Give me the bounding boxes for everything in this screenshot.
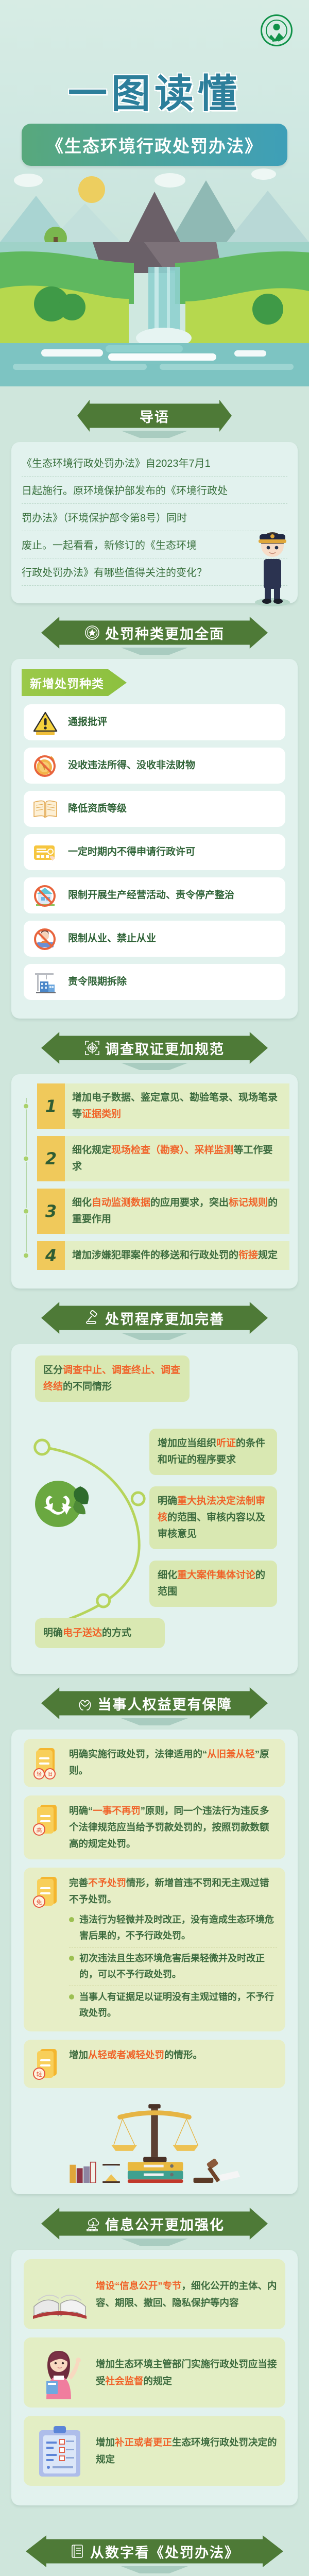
evidence-banner-wrap: 调查取证更加规范 <box>0 1019 309 1070</box>
list-item: 4 增加涉嫌犯罪案件的移送和行政处罚的衔接规定 <box>37 1241 289 1270</box>
types-banner-label: 处罚种类更加全面 <box>105 623 225 643</box>
rights-item: 免 完善不予处罚情形，新增首违不罚和无主观过错不予处罚。 违法行为轻微并及时改正… <box>24 1868 285 2031</box>
cloud-network-icon <box>84 2216 100 2231</box>
list-item-label: 没收违法所得、没收非法财物 <box>68 759 195 772</box>
step-number: 3 <box>37 1189 65 1234</box>
intro-banner-wrap: 导语 <box>0 386 309 438</box>
stamp-char: 免 <box>37 1899 42 1906</box>
procedure-bubble: 明确电子送达的方式 <box>35 1618 165 1648</box>
procedure-banner: 处罚程序更加完善 <box>41 1302 268 1334</box>
infographic-page: MEE 一图读懂 《生态环境行政处罚办法》 <box>0 0 309 2576</box>
no-worker-icon <box>31 926 60 952</box>
list-item: 降低资质等级 <box>24 791 285 827</box>
step-text-mid: 的应用要求，突出 <box>150 1197 229 1208</box>
rights-banner-wrap: 当事人权益更有保障 <box>0 1674 309 1725</box>
text-highlight: 增设“信息公开”专节 <box>96 2280 182 2291</box>
steps-rail <box>26 1098 27 1256</box>
intro-line: 日起施行。原环境保护部发布的《环境行政处 <box>22 481 287 504</box>
list-item: 一定时期内不得申请行政许可 <box>24 834 285 870</box>
text-pre: 明确“ <box>69 1805 93 1816</box>
step-text-post: 规定 <box>258 1250 278 1261</box>
disclosure-item-text: 增加生态环境主管部门实施行政处罚应当接受社会监督的规定 <box>96 2355 278 2389</box>
stamp-char: 轻 <box>37 1771 42 1777</box>
step-text-highlight: 自动监测数据 <box>92 1197 150 1208</box>
procedure-bubble: 细化重大案件集体讨论的范围 <box>149 1561 277 1607</box>
numbers-banner-label: 从数字看《处罚办法》 <box>90 2541 239 2562</box>
clipboard-checklist-icon <box>31 2423 89 2479</box>
doc-stamp-gao-icon: 高 <box>32 1803 62 1837</box>
procedure-bubble: 增加应当组织听证的条件和听证的程序要求 <box>149 1429 277 1475</box>
recycle-heart-leaf-icon <box>30 1474 94 1536</box>
step-dot <box>23 1252 29 1259</box>
mee-emblem-logo: MEE <box>261 14 293 46</box>
intro-card: 《生态环境行政处罚办法》自2023年7月1 日起施行。原环境保护部发布的《环境行… <box>11 442 298 603</box>
list-item-label: 降低资质等级 <box>68 802 127 816</box>
banner-shadow <box>121 1718 188 1725</box>
list-item: 当事人有证据足以证明没有主观过错的，不予行政处罚。 <box>69 1986 277 2024</box>
list-item: 违法行为轻微并及时改正，没有造成生态环境危害后果的，不予行政处罚。 <box>69 1909 277 1947</box>
text-highlight: 补正或者更正 <box>115 2437 172 2448</box>
banner-shadow <box>121 1063 188 1070</box>
bullet-dot <box>69 1956 74 1961</box>
star-badge-icon <box>84 625 100 640</box>
intro-line: 罚办法》（环境保护部令第8号）同时 <box>22 508 287 531</box>
list-item-label: 限制从业、禁止从业 <box>68 932 156 945</box>
list-item: 通报批评 <box>24 704 285 740</box>
step-text-highlight: 证据类别 <box>82 1109 121 1120</box>
rights-sublist: 违法行为轻微并及时改正，没有造成生态环境危害后果的，不予行政处罚。 初次违法且生… <box>69 1909 277 2024</box>
bullet-dot <box>69 1917 74 1922</box>
bubble-post: 的方式 <box>102 1628 131 1638</box>
stamp-char: 轻 <box>37 2071 42 2078</box>
list-item-label: 一定时期内不得申请行政许可 <box>68 845 195 859</box>
emblem-text: MEE <box>262 40 291 43</box>
list-item-label: 通报批评 <box>68 716 107 729</box>
evidence-banner: 调查取证更加规范 <box>41 1032 268 1064</box>
intro-line: 行政处罚办法》有哪些值得关注的变化？ <box>22 563 287 586</box>
step-text-highlight: 衔接 <box>238 1250 258 1261</box>
new-types-tag-label: 新增处罚种类 <box>30 674 104 691</box>
step-dot <box>23 1156 29 1162</box>
stamp-char: 旧 <box>47 1771 53 1777</box>
disclosure-item-text: 增设“信息公开”专节，细化公开的主体、内容、期限、撤回、隐私保护等内容 <box>96 2277 278 2311</box>
procedure-bubble: 明确重大执法决定法制审核的范围、审核内容以及审核意见 <box>149 1486 277 1549</box>
bubble-pre: 增加应当组织 <box>158 1438 216 1449</box>
book-icon <box>70 2544 85 2559</box>
banner-shadow <box>121 431 188 438</box>
step-number: 1 <box>37 1083 65 1129</box>
text-highlight: 从轻或者减轻处罚 <box>88 2049 164 2060</box>
step-text-highlight2: 标记规则 <box>229 1197 268 1208</box>
bubble-pre: 明确 <box>158 1496 177 1506</box>
bullet-dot <box>69 1994 74 1999</box>
bubble-pre: 区分 <box>43 1365 63 1376</box>
types-card: 新增处罚种类 通报批评 ¥ 没收违法所得、没收非法财物 <box>11 659 298 1019</box>
types-banner: 处罚种类更加全面 <box>41 617 268 649</box>
intro-banner-label: 导语 <box>140 406 169 426</box>
target-scan-icon <box>84 1040 100 1056</box>
text-pre: 增加 <box>96 2437 115 2448</box>
bubble-highlight: 电子送达 <box>63 1628 102 1638</box>
bubble-pre: 细化 <box>158 1570 177 1581</box>
step-text: 细化规定现场检查（勘察）、采样监测等工作要求 <box>65 1136 289 1181</box>
step-text: 增加电子数据、鉴定意见、勘验笔录、现场笔录等证据类别 <box>65 1083 289 1129</box>
disclosure-banner-wrap: 信息公开更加强化 <box>0 2194 309 2246</box>
text-post: 的规定 <box>144 2376 173 2386</box>
disclosure-item: 增加生态环境主管部门实施行政处罚应当接受社会监督的规定 <box>24 2337 285 2408</box>
banner-shadow <box>121 1333 188 1340</box>
list-item: 2 细化规定现场检查（勘察）、采样监测等工作要求 <box>37 1136 289 1181</box>
numbers-banner: 从数字看《处罚办法》 <box>26 2535 283 2567</box>
numbers-banner-wrap: 从数字看《处罚办法》 <box>0 2505 309 2573</box>
rights-banner-label: 当事人权益更有保障 <box>98 1693 232 1714</box>
list-item: 限制开展生产经营活动、责令停产整治 <box>24 877 285 913</box>
text-highlight: 社会监督 <box>106 2376 144 2386</box>
list-item-label: 限制开展生产经营活动、责令停产整治 <box>68 889 234 902</box>
text-highlight: 从旧兼从轻 <box>207 1749 255 1759</box>
intro-line: 废止。一起看看，新修订的《生态环境 <box>22 535 287 558</box>
stamp-char: 高 <box>37 1826 42 1834</box>
text-pre: 增加 <box>69 2049 88 2060</box>
text-highlight: 一事不再罚 <box>93 1805 141 1816</box>
new-types-tag: 新增处罚种类 <box>22 669 127 696</box>
sublist-text: 违法行为轻微并及时改正，没有造成生态环境危害后果的，不予行政处罚。 <box>79 1912 277 1944</box>
step-text-highlight: 现场检查（勘察）、采样监测 <box>111 1145 234 1156</box>
step-dot <box>23 1103 29 1110</box>
doc-stamp-mian-icon: 免 <box>32 1875 62 1909</box>
no-money-icon: ¥ <box>31 753 60 778</box>
rights-item: 轻 旧 明确实施行政处罚，法律适用的“从旧兼从轻”原则。 <box>24 1739 285 1787</box>
step-text: 细化自动监测数据的应用要求，突出标记规则的重要作用 <box>65 1189 289 1234</box>
text-post: 的情形。 <box>164 2049 202 2060</box>
rights-item-text: 明确实施行政处罚，法律适用的“从旧兼从轻”原则。 <box>69 1746 277 1779</box>
rights-item-text: 增加从轻或者减轻处罚的情形。 <box>69 2047 277 2063</box>
crane-demolition-icon <box>31 969 60 995</box>
list-item: 1 增加电子数据、鉴定意见、勘验笔录、现场笔录等证据类别 <box>37 1083 289 1129</box>
hero-section: MEE 一图读懂 《生态环境行政处罚办法》 <box>0 0 309 242</box>
banner-shadow <box>121 2566 188 2573</box>
disclosure-banner-label: 信息公开更加强化 <box>105 2214 225 2234</box>
hero-mountains-illustration <box>0 160 309 242</box>
warning-triangle-icon <box>31 709 60 735</box>
justice-scale-books-gavel-icon <box>20 2096 289 2183</box>
rights-item-text: 明确“一事不再罚”原则，同一个违法行为违反多个法律规范应当给予罚款处罚的，按照罚… <box>69 1803 277 1852</box>
rights-item: 轻 增加从轻或者减轻处罚的情形。 <box>24 2040 285 2088</box>
types-banner-wrap: 处罚种类更加全面 <box>0 603 309 655</box>
rights-card: 轻 旧 明确实施行政处罚，法律适用的“从旧兼从轻”原则。 高 明确“一事不再罚”… <box>11 1730 298 2194</box>
disclosure-card: 增设“信息公开”专节，细化公开的主体、内容、期限、撤回、隐私保护等内容 增加生态… <box>11 2250 298 2505</box>
sublist-text: 初次违法且生态环境危害后果轻微并及时改正的，可以不予行政处罚。 <box>79 1951 277 1982</box>
open-book-illustration-icon <box>31 2266 89 2322</box>
sublist-text: 当事人有证据足以证明没有主观过错的，不予行政处罚。 <box>79 1989 277 2021</box>
evidence-banner-label: 调查取证更加规范 <box>105 1038 225 1058</box>
page-subtitle: 《生态环境行政处罚办法》 <box>22 124 287 166</box>
procedure-bubble: 区分调查中止、调查终止、调查终结的不同情形 <box>35 1355 190 1402</box>
step-text: 增加涉嫌犯罪案件的移送和行政处罚的衔接规定 <box>65 1241 289 1270</box>
page-title: 一图读懂 <box>0 62 309 118</box>
list-item: ¥ 没收违法所得、没收非法财物 <box>24 748 285 784</box>
evidence-steps: 1 增加电子数据、鉴定意见、勘验笔录、现场笔录等证据类别 2 细化规定现场检查（… <box>20 1083 289 1270</box>
step-number: 2 <box>37 1136 65 1181</box>
intro-line: 《生态环境行政处罚办法》自2023年7月1 <box>22 453 287 477</box>
woman-pointing-icon <box>31 2345 89 2400</box>
bubble-post: 的范围、审核内容以及审核意见 <box>158 1512 265 1539</box>
justice-scene <box>20 2096 289 2183</box>
bubble-post: 的不同情形 <box>63 1381 112 1392</box>
list-item-label: 责令限期拆除 <box>68 975 127 989</box>
rights-item: 高 明确“一事不再罚”原则，同一个违法行为违反多个法律规范应当给予罚款处罚的，按… <box>24 1795 285 1859</box>
waterfall-landscape-illustration <box>0 242 309 386</box>
banner-shadow <box>121 2239 188 2246</box>
banner-shadow <box>121 648 188 655</box>
list-item: 责令限期拆除 <box>24 964 285 1000</box>
list-item: 3 细化自动监测数据的应用要求，突出标记规则的重要作用 <box>37 1189 289 1234</box>
bubble-pre: 明确 <box>43 1628 63 1638</box>
disclosure-item: 增加补正或者更正生态环境行政处罚决定的规定 <box>24 2416 285 2486</box>
doc-stamp-qing-jiu-icon: 轻 旧 <box>32 1746 62 1780</box>
rights-banner: 当事人权益更有保障 <box>41 1687 268 1719</box>
text-pre: 明确实施行政处罚，法律适用的“ <box>69 1749 207 1759</box>
step-number: 4 <box>37 1241 65 1270</box>
license-card-icon <box>31 839 60 865</box>
step-text-pre: 增加涉嫌犯罪案件的移送和行政处罚的 <box>72 1250 238 1261</box>
procedure-banner-label: 处罚程序更加完善 <box>105 1308 225 1328</box>
list-item: 初次违法且生态环境危害后果轻微并及时改正的，可以不予行政处罚。 <box>69 1947 277 1986</box>
bubble-highlight: 重大案件集体讨论 <box>177 1570 255 1581</box>
evidence-card: 1 增加电子数据、鉴定意见、勘验笔录、现场笔录等证据类别 2 细化规定现场检查（… <box>11 1074 298 1289</box>
open-book-icon <box>31 796 60 822</box>
disclosure-banner: 信息公开更加强化 <box>41 2208 268 2240</box>
doc-stamp-qing-icon: 轻 <box>32 2047 62 2081</box>
hands-heart-icon <box>77 1696 93 1711</box>
officer-character-icon <box>249 519 296 606</box>
list-item: 限制从业、禁止从业 <box>24 921 285 957</box>
intro-banner: 导语 <box>77 400 232 432</box>
step-text-pre: 细化 <box>72 1197 92 1208</box>
gavel-icon <box>84 1310 100 1326</box>
step-dot <box>23 1208 29 1215</box>
text-pre: 完善 <box>69 1877 88 1888</box>
text-highlight: 不予处罚 <box>88 1877 126 1888</box>
no-factory-icon <box>31 883 60 908</box>
procedure-card: 区分调查中止、调查终止、调查终结的不同情形 增加应当组织听证的条件和听证的程序要… <box>11 1344 298 1674</box>
step-text-pre: 细化规定 <box>72 1145 111 1156</box>
rights-item-text: 完善不予处罚情形，新增首违不罚和无主观过错不予处罚。 违法行为轻微并及时改正，没… <box>69 1875 277 2024</box>
bubble-highlight: 听证 <box>216 1438 236 1449</box>
procedure-banner-wrap: 处罚程序更加完善 <box>0 1289 309 1340</box>
disclosure-item-text: 增加补正或者更正生态环境行政处罚决定的规定 <box>96 2434 278 2468</box>
disclosure-item: 增设“信息公开”专节，细化公开的主体、内容、期限、撤回、隐私保护等内容 <box>24 2259 285 2329</box>
